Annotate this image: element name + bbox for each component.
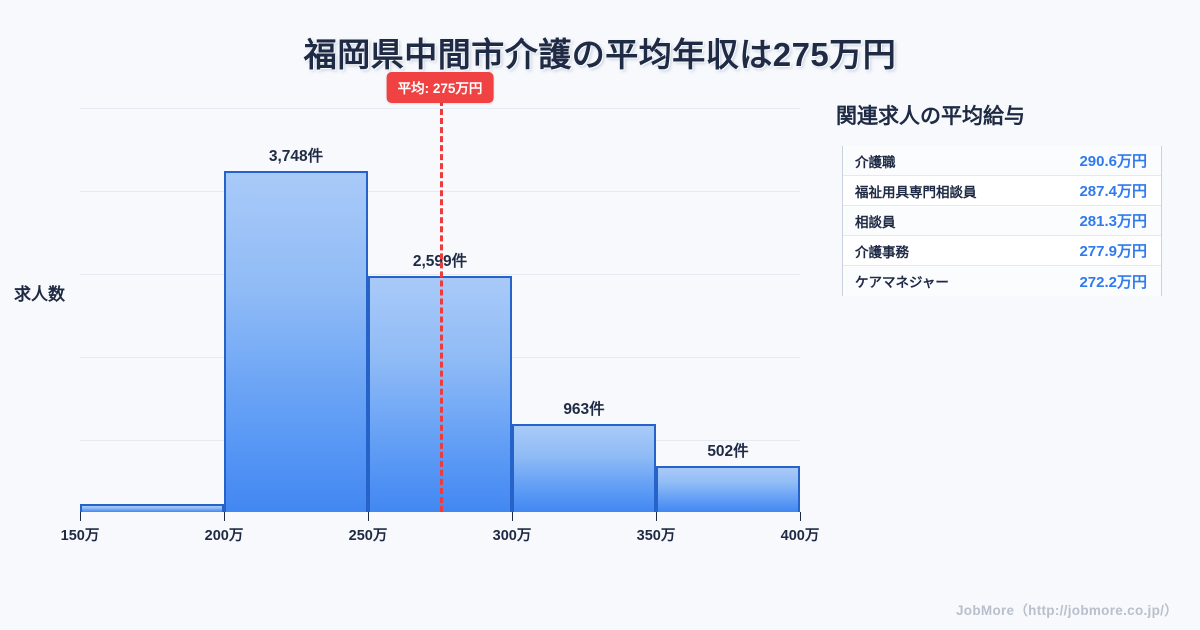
x-axis-tick [80, 512, 81, 521]
salary-table: 介護職290.6万円福祉用具専門相談員287.4万円相談員281.3万円介護事務… [842, 146, 1162, 296]
salary-row[interactable]: 介護事務277.9万円 [843, 236, 1161, 266]
salary-row[interactable]: 介護職290.6万円 [843, 146, 1161, 176]
y-axis-title: 求人数 [14, 280, 65, 305]
salary-row-name: ケアマネジャー [855, 271, 949, 291]
salary-row[interactable]: 福祉用具専門相談員287.4万円 [843, 176, 1161, 206]
average-badge: 平均: 275万円 [387, 72, 494, 103]
bar [224, 171, 368, 512]
salary-row[interactable]: ケアマネジャー272.2万円 [843, 266, 1161, 296]
histogram-chart: 求人数 3,748件2,599件963件502件平均: 275万円 150万20… [0, 90, 820, 550]
bar-value-label: 3,748件 [224, 144, 368, 166]
footer-attribution: JobMore（http://jobmore.co.jp/） [956, 599, 1178, 619]
x-axis-tick-label: 350万 [637, 524, 676, 545]
salary-row-name: 福祉用具専門相談員 [855, 181, 977, 201]
x-axis-tick [368, 512, 369, 521]
bar [512, 424, 656, 512]
x-axis-tick [800, 512, 801, 521]
x-axis-tick-label: 200万 [205, 524, 244, 545]
salary-row-name: 介護職 [855, 151, 896, 171]
side-panel-title: 関連求人の平均給与 [836, 100, 1176, 130]
x-axis-tick [656, 512, 657, 521]
salary-row-value: 272.2万円 [1079, 271, 1147, 292]
x-axis: 150万200万250万300万350万400万 [80, 512, 800, 552]
bar [656, 466, 800, 512]
salary-row-name: 相談員 [855, 211, 896, 231]
x-axis-tick [224, 512, 225, 521]
plot-area: 3,748件2,599件963件502件平均: 275万円 [80, 100, 800, 512]
salary-row-name: 介護事務 [855, 241, 909, 261]
salary-row[interactable]: 相談員281.3万円 [843, 206, 1161, 236]
bar-value-label: 502件 [656, 439, 800, 461]
salary-row-value: 287.4万円 [1079, 180, 1147, 201]
bar-value-label: 963件 [512, 397, 656, 419]
x-axis-tick-label: 250万 [349, 524, 388, 545]
bar [80, 504, 224, 512]
salary-row-value: 277.9万円 [1079, 240, 1147, 261]
x-axis-tick-label: 400万 [781, 524, 820, 545]
page-title: 福岡県中間市介護の平均年収は275万円 [0, 28, 1200, 76]
average-line [440, 100, 443, 512]
x-axis-tick-label: 150万 [61, 524, 100, 545]
x-axis-tick [512, 512, 513, 521]
related-salary-panel: 関連求人の平均給与 介護職290.6万円福祉用具専門相談員287.4万円相談員2… [836, 100, 1176, 296]
infographic-root: 福岡県中間市介護の平均年収は275万円 求人数 3,748件2,599件963件… [0, 0, 1200, 630]
salary-row-value: 281.3万円 [1079, 210, 1147, 231]
salary-row-value: 290.6万円 [1079, 150, 1147, 171]
x-axis-tick-label: 300万 [493, 524, 532, 545]
